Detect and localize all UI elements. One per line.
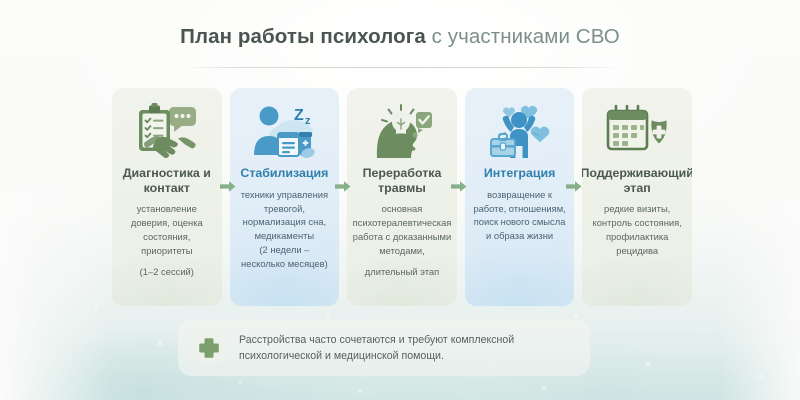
head-lightbulb-check-icon — [371, 100, 433, 162]
arrow-right-icon — [335, 180, 351, 193]
stage-title: Интеграция — [482, 166, 557, 181]
header: План работы психолога с участниками СВО — [0, 26, 800, 49]
title-divider — [182, 67, 619, 68]
infographic-canvas: План работы психолога с участниками СВО — [0, 0, 800, 400]
stage-body: редкие визиты, контроль состояния, профи… — [588, 202, 686, 258]
stage-card-maintenance[interactable]: Поддерживающий этап редкие визиты, контр… — [582, 88, 692, 306]
stage-card-stabilization[interactable]: Z z — [230, 88, 340, 306]
stage-card-row: Диагностика и контакт установление довер… — [112, 88, 692, 306]
stage-title: Стабилизация — [238, 166, 330, 181]
stage-body: основная психотералевтическая работа с д… — [352, 202, 453, 258]
medical-cross-icon — [192, 331, 226, 365]
stage-card-integration[interactable]: Интеграция возвращение к работе, отношен… — [465, 88, 575, 306]
fade-mask-right — [720, 200, 800, 400]
stage-title: Диагностика и контакт — [118, 166, 216, 195]
stage-note: (2 недели – несколько месяцев) — [236, 243, 334, 271]
page-title-light: с участниками СВО — [426, 25, 620, 48]
person-sleep-medication-icon: Z z — [252, 100, 316, 162]
stage-note: (1–2 сессий) — [139, 265, 195, 279]
arrow-right-icon — [566, 180, 582, 193]
stage-title: Переработка травмы — [353, 166, 451, 195]
stage-card-diagnostics[interactable]: Диагностика и контакт установление довер… — [112, 88, 222, 306]
stage-title: Поддерживающий этап — [582, 166, 692, 195]
stage-card-trauma-processing[interactable]: Переработка травмы основная психотералев… — [347, 88, 457, 306]
page-title-strong: План работы психолога — [180, 25, 426, 48]
svg-text:z: z — [305, 115, 311, 127]
footer-text-line1: Расстройства часто сочетаются и требуют … — [239, 332, 514, 348]
svg-text:Z: Z — [294, 107, 304, 124]
footer-text-line2: психологической и медицинской помощи. — [239, 348, 514, 364]
calendar-shield-cross-icon — [606, 100, 668, 162]
clipboard-handshake-icon — [136, 100, 198, 162]
footer-note-bar: Расстройства часто сочетаются и требуют … — [178, 320, 590, 376]
stage-body: возвращение к работе, отношениям, поиск … — [471, 188, 569, 244]
arrow-right-icon — [220, 180, 236, 193]
footer-text: Расстройства часто сочетаются и требуют … — [239, 332, 514, 365]
stage-note: длительный этап — [364, 265, 440, 279]
stage-body: установление доверия, оценка состояния, … — [118, 202, 216, 258]
stage-body: техники управления тревогой, нормализаци… — [236, 188, 334, 244]
person-arms-up-hearts-briefcase-icon — [489, 100, 551, 162]
fade-mask-left — [0, 190, 110, 400]
page-title: План работы психолога с участниками СВО — [0, 26, 800, 49]
arrow-right-icon — [451, 180, 467, 193]
